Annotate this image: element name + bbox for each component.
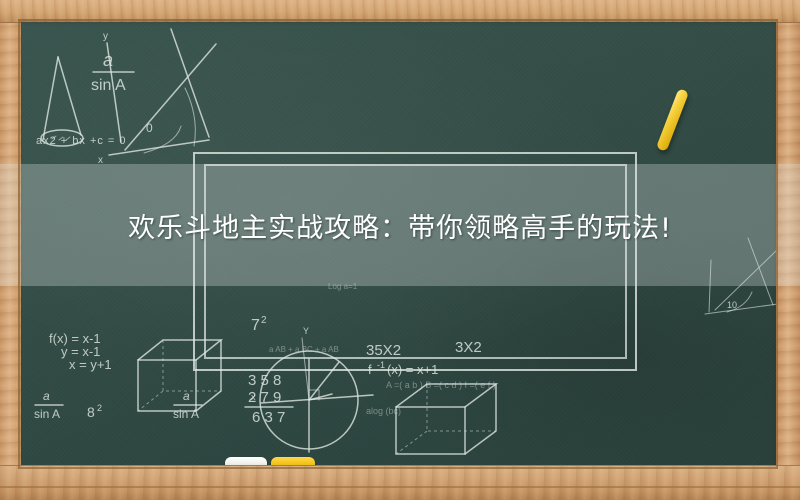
function-lines: f(x) = x-1 y = x-1 x = y+1 [49,331,112,372]
svg-text:A =( a b ) B =( c d ) I =( e: A =( a b ) B =( c d ) I =( e f ) [386,380,496,390]
svg-text:2 7 9: 2 7 9 [248,389,281,406]
svg-text:sin A: sin A [173,407,199,421]
angle-diagram-top-left: y x 0 [98,29,216,166]
svg-text:x = y+1: x = y+1 [69,357,112,372]
svg-text:alog (bc): alog (bc) [366,406,401,416]
svg-text:sin A: sin A [91,77,126,94]
svg-text:6 3 7: 6 3 7 [252,409,285,426]
title-container: 欢乐斗地主实战攻略：带你领略高手的玩法! [0,164,800,286]
svg-text:8: 8 [87,404,95,420]
cube-bottom-right [396,384,496,454]
tray-lip [0,486,800,488]
fraction-a-over-sinA: a sin A [91,50,134,94]
svg-text:0: 0 [146,121,153,135]
fraction-mid: a sin A [173,389,202,421]
svg-text:3 5 8: 3 5 8 [248,372,281,389]
power-eight-squared: 8 2 [87,403,102,420]
frame-ledge-bottom [0,465,800,500]
frame-edge-top [0,0,800,23]
svg-text:10: 10 [727,300,737,310]
svg-text:a: a [103,50,113,70]
page-title: 欢乐斗地主实战攻略：带你领略高手的玩法! [128,206,672,245]
quadratic-equation: ax2 + bx +c = 0 [36,135,127,147]
banner-image: a sin A ax2 + bx +c = 0 y x 0 [0,0,800,500]
addition-sum: 3 5 8 2 7 9 6 3 7 [245,372,293,426]
svg-text:x: x [251,392,256,402]
svg-text:a: a [43,389,50,403]
svg-text:y = x-1: y = x-1 [61,344,100,359]
svg-text:f(x) = x-1: f(x) = x-1 [49,331,101,346]
matrix-expression: A =( a b ) B =( c d ) I =( e f ) [386,380,496,390]
svg-text:ax2 + bx +c = 0: ax2 + bx +c = 0 [36,135,127,147]
svg-text:sin A: sin A [34,407,60,421]
svg-text:a: a [183,389,190,403]
svg-text:y: y [103,31,108,42]
svg-text:2: 2 [97,403,102,413]
fraction-left: a sin A [34,389,63,421]
chalk-yellow-floating [656,88,689,152]
cone-shape [41,57,83,146]
log-expression: alog (bc) [366,406,401,416]
